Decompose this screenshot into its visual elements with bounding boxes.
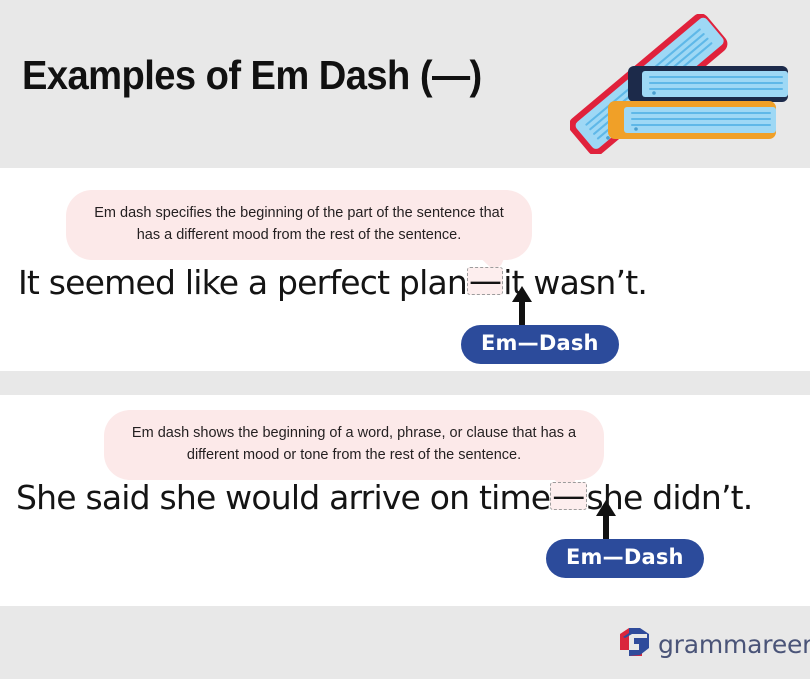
infographic-page: Examples of Em Dash (—) (0, 0, 810, 679)
example-sentence-2: She said she would arrive on time—she di… (16, 478, 753, 517)
example-sentence-1: It seemed like a perfect plan—it wasn’t. (18, 263, 647, 302)
status-badge-em-dash-1: Em—Dash (461, 325, 619, 364)
explanation-bubble-2: Em dash shows the beginning of a word, p… (104, 410, 604, 480)
sentence-1-before: It seemed like a perfect plan (18, 263, 467, 302)
page-title: Examples of Em Dash (—) (22, 52, 482, 99)
brand-logo[interactable]: grammareer (618, 625, 810, 664)
header-band: Examples of Em Dash (—) (0, 0, 810, 168)
em-dash-highlight-2: — (550, 482, 586, 510)
stacked-books-icon (570, 14, 790, 154)
explanation-bubble-1: Em dash specifies the beginning of the p… (66, 190, 532, 260)
hexagon-g-logo-icon (618, 625, 654, 664)
explanation-text-2: Em dash shows the beginning of a word, p… (132, 425, 576, 463)
separator-band (0, 371, 810, 395)
em-dash-highlight-1: — (467, 267, 503, 295)
sentence-2-before: She said she would arrive on time (16, 478, 550, 517)
brand-logo-text: grammareer (658, 630, 810, 659)
status-badge-em-dash-2: Em—Dash (546, 539, 704, 578)
explanation-text-1: Em dash specifies the beginning of the p… (94, 205, 504, 243)
